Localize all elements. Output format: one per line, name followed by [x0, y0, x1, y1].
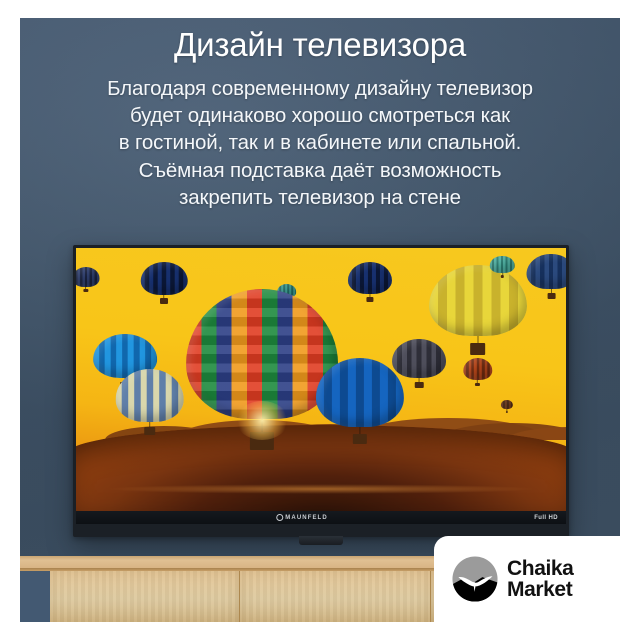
tv-resolution-badge: Full HD [534, 515, 558, 521]
cabinet-door [240, 571, 430, 622]
balloon-basket [547, 293, 555, 299]
balloon-left-edge [76, 267, 99, 286]
balloon-basket [144, 427, 155, 435]
balloon-envelope [429, 265, 527, 337]
balloon-basket [84, 289, 88, 292]
balloon-blue-right [316, 358, 404, 427]
description-line-5: закрепить телевизор на стене [38, 184, 602, 211]
ground-valley [76, 425, 566, 511]
brand-logo-badge: Chaika Market [434, 536, 620, 622]
description-line-4: Съёмная подставка даёт возможность [38, 157, 602, 184]
brand-name-line-2: Market [507, 579, 573, 600]
brand-name-line-1: Chaika [507, 558, 573, 579]
valley-path [105, 484, 536, 494]
balloon-envelope [348, 262, 392, 294]
balloon-striped-pale [115, 369, 184, 421]
page-title: Дизайн телевизора [20, 26, 620, 65]
description-line-3: в гостиной, так и в кабинете или спально… [38, 129, 602, 156]
balloon-orange-sm [463, 358, 492, 380]
balloon-envelope [501, 400, 513, 410]
balloon-blue-far [527, 254, 566, 290]
balloon-envelope [76, 267, 99, 286]
balloon-basket [500, 275, 504, 278]
balloon-cable [477, 336, 478, 343]
balloon-envelope [316, 358, 404, 427]
tv-brand-logo: MAUNFELD [276, 514, 327, 521]
balloon-navy-right [348, 262, 392, 294]
description-line-1: Благодаря современному дизайну телевизор [38, 75, 602, 102]
seagull-circle-icon [452, 556, 498, 602]
screenshot-canvas: Дизайн телевизора Благодаря современному… [0, 0, 640, 640]
cabinet-door [50, 571, 240, 622]
brand-logo-text: Chaika Market [507, 558, 573, 601]
balloon-navy-stripe [141, 262, 188, 295]
balloon-teal-small [490, 256, 515, 273]
balloon-basket [160, 298, 167, 303]
balloon-dot-far [501, 400, 513, 410]
circle-logo-icon [276, 514, 283, 521]
balloon-basket [470, 343, 486, 354]
marketing-text-block: Дизайн телевизора Благодаря современному… [20, 26, 620, 211]
television: MAUNFELD Full HD [73, 245, 569, 537]
burner-glow [236, 401, 288, 440]
balloon-basket [506, 411, 508, 413]
balloon-basket [475, 383, 480, 386]
balloon-envelope [115, 369, 184, 421]
balloon-cable [360, 427, 361, 434]
balloon-basket [353, 434, 367, 444]
balloon-envelope [527, 254, 566, 290]
description-paragraph: Благодаря современному дизайну телевизор… [20, 75, 620, 211]
tv-stand [299, 536, 343, 545]
balloon-yellow-big [429, 265, 527, 337]
balloon-envelope [490, 256, 515, 273]
description-line-2: будет одинаково хорошо смотреться как [38, 102, 602, 129]
balloon-envelope [463, 358, 492, 380]
tv-bottom-bezel: MAUNFELD Full HD [76, 511, 566, 524]
balloon-envelope [141, 262, 188, 295]
balloon-basket [366, 297, 373, 302]
product-photo-card: Дизайн телевизора Благодаря современному… [20, 18, 620, 622]
tv-screen: MAUNFELD Full HD [76, 248, 566, 524]
tv-brand-label: MAUNFELD [285, 515, 327, 521]
balloon-basket [415, 382, 424, 388]
